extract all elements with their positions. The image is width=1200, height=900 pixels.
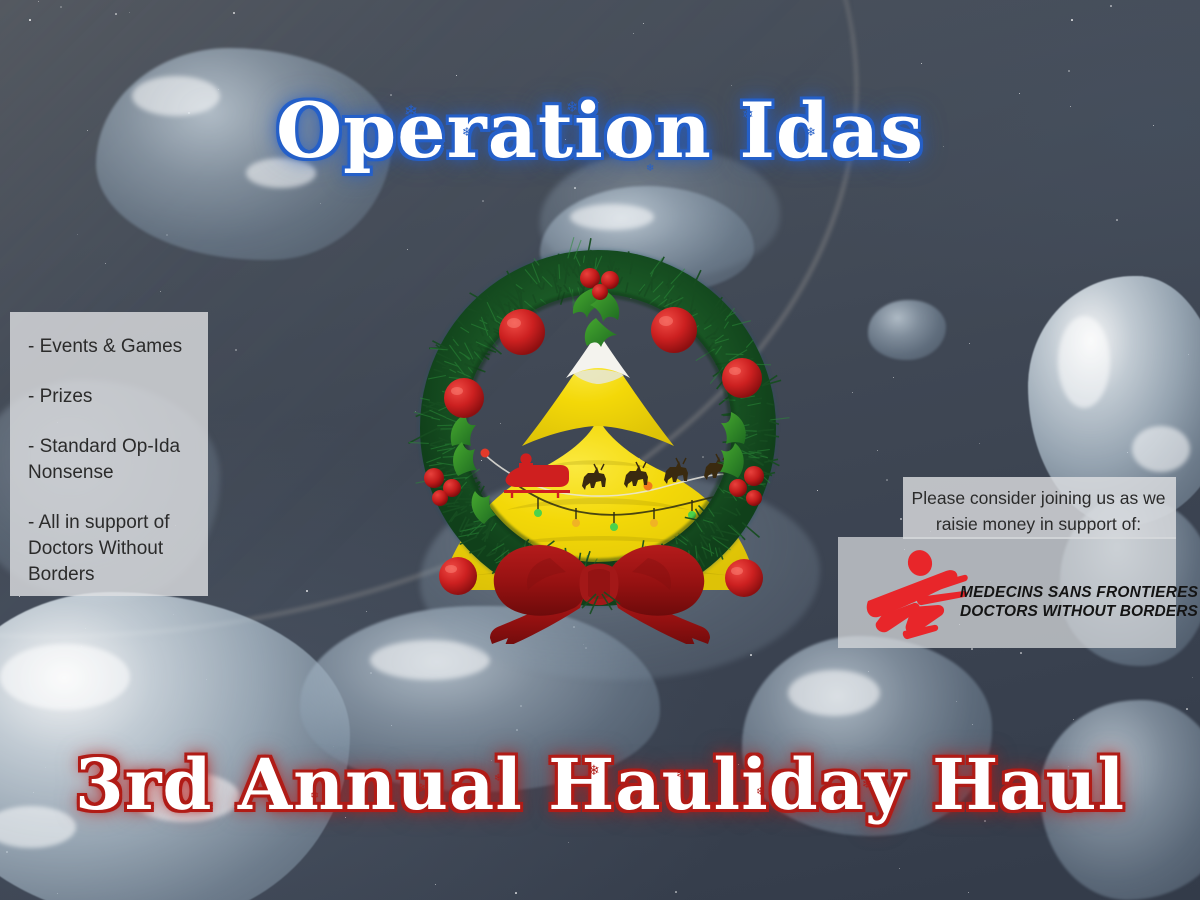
msf-logo-wordmark: MEDECINS SANS FRONTIERES DOCTORS WITHOUT…	[960, 583, 1172, 621]
star	[979, 443, 980, 444]
list-item: - All in support of Doctors Without Bord…	[28, 510, 194, 588]
star	[456, 75, 457, 76]
star	[1110, 5, 1112, 7]
star	[1073, 719, 1074, 720]
star	[877, 450, 878, 451]
star	[675, 891, 677, 893]
star	[129, 12, 130, 13]
star	[160, 291, 161, 292]
info-panel: - Events & Games - Prizes - Standard Op-…	[10, 312, 208, 596]
list-item: - Events & Games	[28, 334, 194, 360]
star	[852, 392, 853, 393]
page-title: Operation Idas	[0, 86, 1200, 176]
star	[750, 654, 752, 656]
star	[969, 343, 970, 344]
msf-wordmark-line2: DOCTORS WITHOUT BORDERS	[960, 602, 1172, 621]
star	[1020, 652, 1022, 654]
msf-logo-icon	[860, 545, 968, 641]
star	[29, 19, 31, 21]
list-item: - Prizes	[28, 384, 194, 410]
star	[1116, 219, 1118, 221]
star	[366, 611, 367, 612]
star	[568, 842, 569, 843]
star	[893, 377, 894, 378]
star	[971, 648, 973, 650]
star	[1186, 708, 1188, 710]
star	[515, 892, 517, 894]
msf-wordmark-line1: MEDECINS SANS FRONTIERES	[960, 583, 1172, 602]
list-item: - Standard Op-Ida Nonsense	[28, 434, 194, 486]
star	[482, 200, 484, 202]
star	[921, 63, 922, 64]
star	[60, 6, 62, 8]
star	[643, 23, 644, 24]
star	[886, 479, 888, 481]
star	[38, 1, 39, 2]
christmas-wreath-graphic	[398, 232, 798, 644]
star	[633, 33, 634, 34]
star	[105, 263, 106, 264]
star	[968, 892, 969, 893]
star	[115, 13, 117, 15]
charity-message-line2: raisie money in support of:	[909, 511, 1168, 537]
star	[435, 884, 436, 885]
star	[77, 234, 78, 235]
star	[1068, 70, 1070, 72]
charity-message-line1: Please consider joining us as we	[909, 485, 1168, 511]
poster-stage: Operation Idas ❄ ❄ ❄ ❄ ❄ ❄ ❄ 3rd Annual …	[0, 0, 1200, 900]
star	[1192, 677, 1193, 678]
star	[233, 12, 235, 14]
star	[19, 596, 20, 597]
charity-message-panel: Please consider joining us as we raisie …	[903, 477, 1176, 539]
page-subtitle: 3rd Annual Hauliday Haul	[0, 742, 1200, 828]
star	[817, 490, 818, 491]
star	[899, 868, 900, 869]
star	[306, 590, 308, 592]
star	[235, 349, 237, 351]
star	[1071, 19, 1073, 21]
msf-logo-panel: MEDECINS SANS FRONTIERES DOCTORS WITHOUT…	[838, 537, 1176, 648]
